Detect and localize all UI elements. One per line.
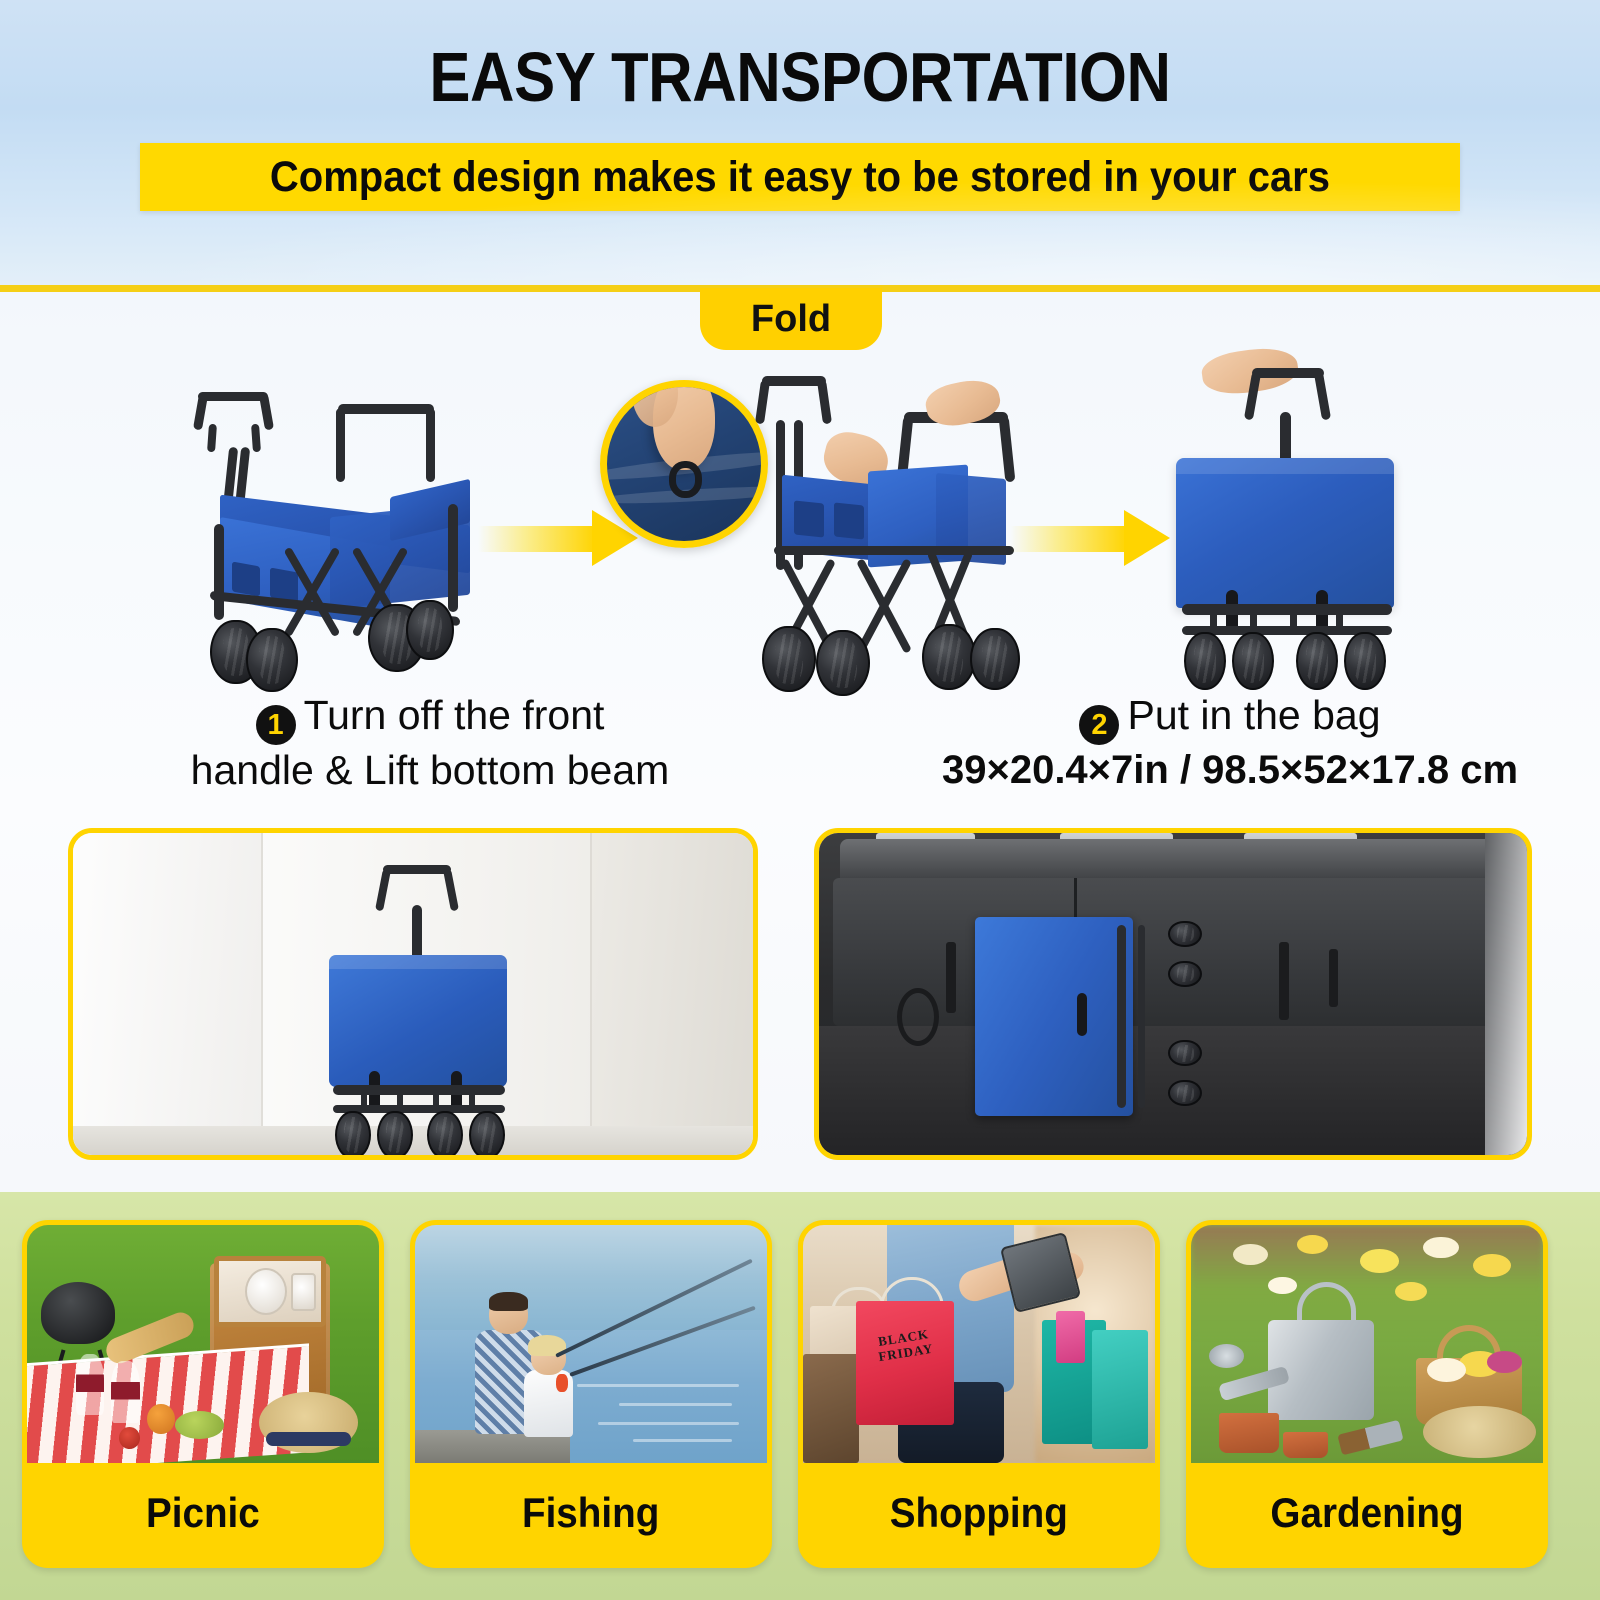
step-1-badge: 1 <box>256 705 296 745</box>
step-2-caption: 2Put in the bag 39×20.4×7in / 98.5×52×17… <box>860 690 1600 795</box>
carry-bag <box>1176 458 1394 608</box>
use-case-label-picnic: Picnic <box>27 1463 379 1563</box>
use-case-label-text: Picnic <box>146 1489 260 1537</box>
storage-photos-section <box>0 800 1600 1192</box>
step-2-line-1: 2Put in the bag <box>860 690 1600 745</box>
use-case-card-shopping[interactable]: BLACK FRIDAY Shopping <box>798 1220 1160 1568</box>
step-1-text-2: handle & Lift bottom beam <box>60 745 800 795</box>
page-title: EASY TRANSPORTATION <box>96 42 1504 112</box>
use-case-card-gardening[interactable]: Gardening <box>1186 1220 1548 1568</box>
fishing-photo <box>415 1225 767 1463</box>
hero-banner-section: EASY TRANSPORTATION Compact design makes… <box>0 0 1600 285</box>
step-2-dimensions: 39×20.4×7in / 98.5×52×17.8 cm <box>860 745 1600 795</box>
infographic-canvas: EASY TRANSPORTATION Compact design makes… <box>0 0 1600 1600</box>
step-2-text-1: Put in the bag <box>1127 692 1380 738</box>
step-1-line-1: 1Turn off the front <box>60 690 800 745</box>
wagon-folded-illustration <box>1140 350 1470 690</box>
picnic-photo <box>27 1225 379 1463</box>
use-case-label-gardening: Gardening <box>1191 1463 1543 1563</box>
use-case-card-picnic[interactable]: Picnic <box>22 1220 384 1568</box>
fold-sequence-section: 1Turn off the front handle & Lift bottom… <box>0 292 1600 800</box>
use-cases-section: Picnic <box>0 1192 1600 1600</box>
gardening-photo <box>1191 1225 1543 1463</box>
black-friday-bag <box>856 1301 955 1425</box>
use-case-label-text: Shopping <box>890 1489 1068 1537</box>
closet-storage-photo <box>68 828 758 1160</box>
use-case-card-fishing[interactable]: Fishing <box>410 1220 772 1568</box>
shopping-photo: BLACK FRIDAY <box>803 1225 1155 1463</box>
use-case-label-shopping: Shopping <box>803 1463 1155 1563</box>
car-trunk-photo <box>814 828 1532 1160</box>
use-case-label-text: Gardening <box>1270 1489 1463 1537</box>
step-1-text-1: Turn off the front <box>304 692 605 738</box>
step-1-caption: 1Turn off the front handle & Lift bottom… <box>60 690 800 795</box>
fold-label-text: Fold <box>751 298 831 341</box>
fold-arrow-1 <box>478 510 638 566</box>
fold-label-pill: Fold <box>700 288 882 350</box>
use-case-label-text: Fishing <box>522 1489 659 1537</box>
step-2-badge: 2 <box>1079 705 1119 745</box>
use-case-label-fishing: Fishing <box>415 1463 767 1563</box>
hero-subtitle-banner: Compact design makes it easy to be store… <box>140 143 1460 211</box>
hero-subtitle-text: Compact design makes it easy to be store… <box>270 153 1330 202</box>
wagon-unfolded-illustration <box>180 392 510 692</box>
